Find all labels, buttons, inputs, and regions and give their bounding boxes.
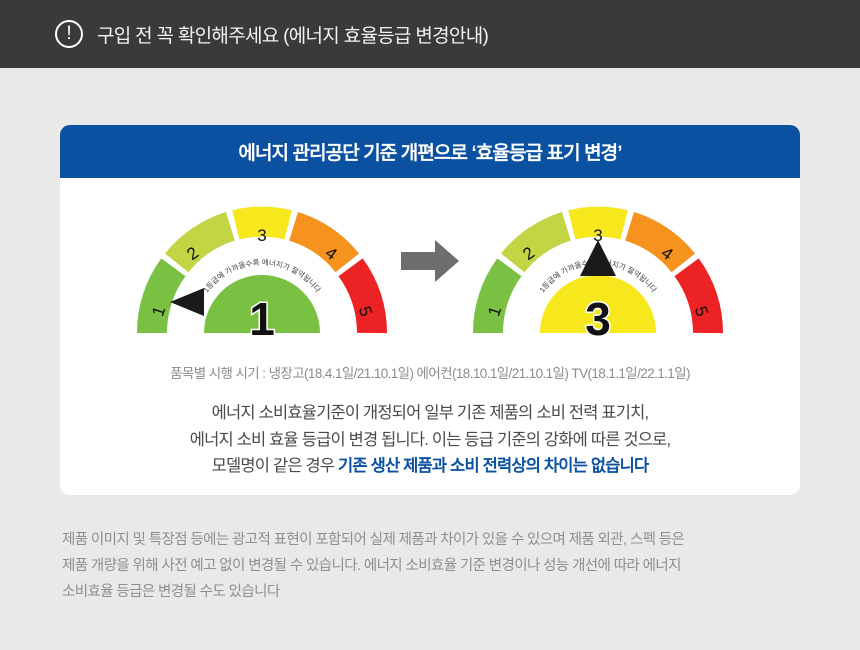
card-title-bar: 에너지 관리공단 기준 개편으로 ‘효율등급 표기 변경’ bbox=[60, 125, 800, 178]
body-line-3: 모델명이 같은 경우 기존 생산 제품과 소비 전력상의 차이는 없습니다 bbox=[60, 453, 800, 480]
arc-label-3: 3 bbox=[257, 226, 266, 245]
card-title-text: 에너지 관리공단 기준 개편으로 ‘효율등급 표기 변경’ bbox=[238, 138, 621, 165]
gauge-before-rating: 1 bbox=[132, 296, 392, 342]
body-line-3-highlight: 기존 생산 제품과 소비 전력상의 차이는 없습니다 bbox=[338, 457, 648, 475]
body-line-2: 에너지 소비 효율 등급이 변경 됩니다. 이는 등급 기준의 강화에 따른 것… bbox=[60, 427, 800, 454]
gauge-after: 1 2 3 4 5 1등급에 가까울수록 에너지가 절약됩니다 3 bbox=[468, 196, 728, 346]
arc-segment-3 bbox=[572, 222, 624, 225]
disclaimer-line-2: 제품 개량을 위해 사전 예고 없이 변경될 수 있습니다. 에너지 소비효율 … bbox=[62, 554, 802, 580]
gauge-comparison-row: 1 2 3 4 5 1등급에 가까울수록 에너지가 절약됩니다 1 bbox=[60, 196, 800, 356]
gauge-after-rating: 3 bbox=[468, 296, 728, 342]
page-root: ! 구입 전 꼭 확인해주세요 (에너지 효율등급 변경안내) 에너지 관리공단… bbox=[0, 0, 860, 650]
arc-segment-4 bbox=[630, 226, 684, 263]
transition-arrow bbox=[392, 196, 468, 346]
notice-header-title: 구입 전 꼭 확인해주세요 (에너지 효율등급 변경안내) bbox=[97, 21, 488, 48]
right-arrow-icon bbox=[399, 239, 461, 283]
disclaimer-line-3: 소비효율 등급은 변경될 수도 있습니다 bbox=[62, 580, 802, 606]
implementation-date-line: 품목별 시행 시기 : 냉장고(18.4.1일/21.10.1일) 에어컨(18… bbox=[60, 362, 800, 382]
disclaimer-line-1: 제품 이미지 및 특장점 등에는 광고적 표현이 포함되어 실제 제품과 차이가… bbox=[62, 528, 802, 554]
arc-segment-4 bbox=[294, 226, 348, 263]
right-arrow-shape bbox=[401, 240, 459, 282]
gauge-after-pointer-up-icon bbox=[580, 240, 616, 276]
legal-disclaimer: 제품 이미지 및 특장점 등에는 광고적 표현이 포함되어 실제 제품과 차이가… bbox=[62, 528, 802, 605]
energy-grade-card: 에너지 관리공단 기준 개편으로 ‘효율등급 표기 변경’ bbox=[60, 125, 800, 495]
arc-segment-2 bbox=[513, 226, 567, 263]
body-line-1: 에너지 소비효율기준이 개정되어 일부 기존 제품의 소비 전력 표기치, bbox=[60, 400, 800, 427]
arc-segment-3 bbox=[236, 222, 288, 225]
arc-segment-2 bbox=[177, 226, 231, 263]
exclamation-circle-icon: ! bbox=[55, 20, 83, 48]
notice-body-paragraph: 에너지 소비효율기준이 개정되어 일부 기존 제품의 소비 전력 표기치, 에너… bbox=[60, 400, 800, 480]
exclamation-mark: ! bbox=[66, 24, 71, 43]
notice-header-bar: ! 구입 전 꼭 확인해주세요 (에너지 효율등급 변경안내) bbox=[0, 0, 860, 68]
body-line-3-plain: 모델명이 같은 경우 bbox=[212, 457, 338, 475]
gauge-before: 1 2 3 4 5 1등급에 가까울수록 에너지가 절약됩니다 1 bbox=[132, 196, 392, 346]
